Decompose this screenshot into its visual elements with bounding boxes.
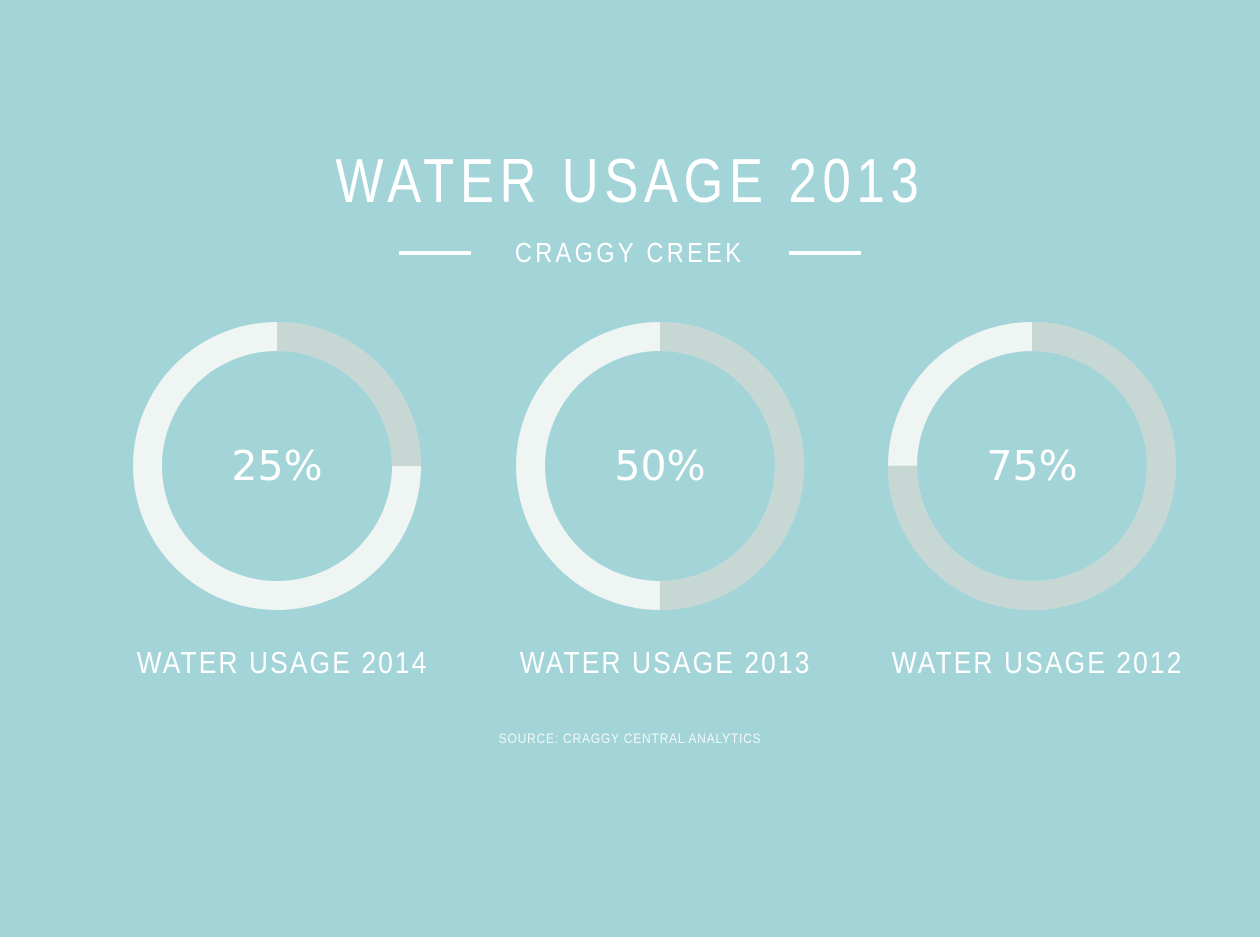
subtitle-rule-right (789, 251, 861, 255)
donut-chart-row: 25% 50% 75% (0, 322, 1260, 622)
poster-header: WATER USAGE 2013 CRAGGY CREEK (0, 148, 1260, 268)
infographic-poster: WATER USAGE 2013 CRAGGY CREEK 25% (0, 0, 1260, 937)
donut-svg (516, 322, 804, 610)
donut-wrapper: 75% (888, 322, 1176, 610)
donut-wrapper: 50% (516, 322, 804, 610)
chart-caption-row: WATER USAGE 2014 WATER USAGE 2013 WATER … (0, 645, 1260, 695)
donut-svg (133, 322, 421, 610)
donut-wrapper: 25% (133, 322, 421, 610)
chart-caption-label: WATER USAGE 2014 (137, 645, 418, 681)
donut-chart-water-usage-2014: 25% (133, 322, 421, 610)
source-note-text: SOURCE: CRAGGY CENTRAL ANALYTICS (88, 729, 1172, 747)
page-title: WATER USAGE 2013 (113, 148, 1146, 216)
donut-svg (888, 322, 1176, 610)
subtitle-row: CRAGGY CREEK (0, 238, 1260, 268)
page-subtitle: CRAGGY CREEK (515, 238, 744, 268)
chart-caption-label: WATER USAGE 2013 (520, 645, 801, 681)
chart-caption: WATER USAGE 2012 (867, 645, 1197, 681)
subtitle-rule-left (399, 251, 471, 255)
donut-chart-water-usage-2012: 75% (888, 322, 1176, 610)
chart-caption-label: WATER USAGE 2012 (892, 645, 1173, 681)
chart-caption: WATER USAGE 2013 (495, 645, 825, 681)
chart-caption: WATER USAGE 2014 (112, 645, 442, 681)
source-note: SOURCE: CRAGGY CENTRAL ANALYTICS (0, 729, 1260, 747)
donut-chart-water-usage-2013: 50% (516, 322, 804, 610)
